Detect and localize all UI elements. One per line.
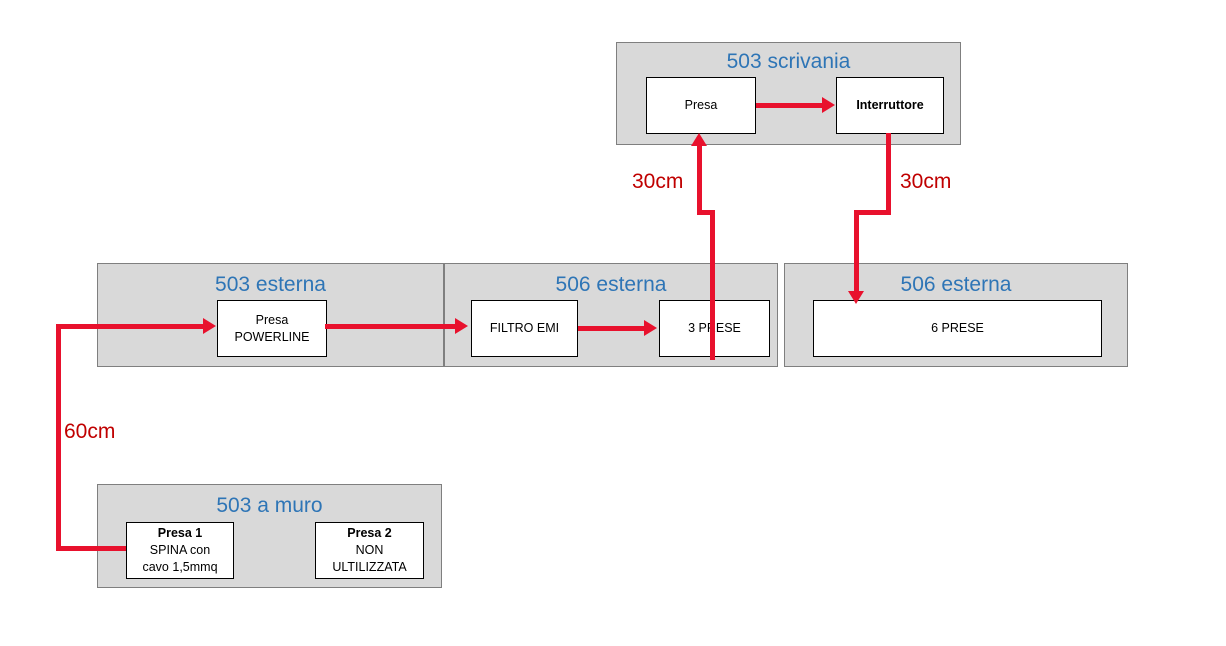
panel-503-a-muro: 503 a muro Presa 1 SPINA con cavo 1,5mmq…	[97, 484, 442, 588]
panel-503-esterna: 503 esterna Presa POWERLINE	[97, 263, 444, 367]
box-filtro-emi-line-1: FILTRO EMI	[490, 320, 559, 337]
box-presa-1-line-1: Presa 1	[158, 525, 202, 542]
box-6-prese-line-1: 6 PRESE	[931, 320, 984, 337]
box-presa-scrivania: Presa	[646, 77, 756, 134]
measure-30cm-right: 30cm	[900, 169, 951, 194]
arrowhead-60cm-to-powerline	[203, 318, 216, 334]
panel-title-503-scrivania: 503 scrivania	[617, 49, 960, 75]
box-presa-2-line-1: Presa 2	[347, 525, 391, 542]
connector-60cm-bottom	[56, 546, 126, 551]
connector-60cm-top	[56, 324, 211, 329]
panel-title-503-a-muro: 503 a muro	[98, 493, 441, 519]
box-presa-powerline: Presa POWERLINE	[217, 300, 327, 357]
arrowhead-30cm-left-to-presa	[691, 133, 707, 146]
box-presa-powerline-line-1: Presa	[256, 312, 289, 329]
panel-506-esterna-a: 506 esterna FILTRO EMI 3 PRESE	[444, 263, 778, 367]
arrowhead-presa-to-interruttore	[822, 97, 835, 113]
connector-30cm-right-lower	[854, 210, 859, 292]
connector-powerline-to-filtro	[325, 324, 457, 329]
connector-filtro-to-3prese	[578, 326, 646, 331]
box-presa-2: Presa 2 NON ULTILIZZATA	[315, 522, 424, 579]
arrowhead-powerline-to-filtro	[455, 318, 468, 334]
connector-30cm-right-upper	[886, 133, 891, 215]
diagram-canvas: 503 scrivania Presa Interruttore 503 est…	[0, 0, 1226, 646]
box-presa-powerline-line-2: POWERLINE	[234, 329, 309, 346]
arrowhead-filtro-to-3prese	[644, 320, 657, 336]
box-filtro-emi: FILTRO EMI	[471, 300, 578, 357]
panel-506-esterna-b: 506 esterna 6 PRESE	[784, 263, 1128, 367]
box-interruttore: Interruttore	[836, 77, 944, 134]
box-presa-2-line-2: NON	[356, 542, 384, 559]
connector-presa-to-interruttore	[756, 103, 824, 108]
box-presa-scrivania-line-1: Presa	[685, 97, 718, 114]
panel-title-503-esterna: 503 esterna	[98, 272, 443, 298]
measure-60cm: 60cm	[64, 419, 115, 444]
panel-title-506-esterna-b: 506 esterna	[785, 272, 1127, 298]
panel-title-506-esterna-a: 506 esterna	[445, 272, 777, 298]
connector-60cm-vertical	[56, 324, 61, 551]
connector-30cm-left-upper	[697, 145, 702, 213]
connector-30cm-right-step	[854, 210, 891, 215]
connector-30cm-left-lower	[710, 210, 715, 360]
box-presa-1-line-2: SPINA con	[150, 542, 210, 559]
measure-30cm-left: 30cm	[632, 169, 683, 194]
box-presa-1-line-3: cavo 1,5mmq	[142, 559, 217, 576]
panel-503-scrivania: 503 scrivania Presa Interruttore	[616, 42, 961, 145]
box-6-prese: 6 PRESE	[813, 300, 1102, 357]
box-presa-2-line-3: ULTILIZZATA	[332, 559, 406, 576]
arrowhead-30cm-right-to-6prese	[848, 291, 864, 304]
box-interruttore-line-1: Interruttore	[856, 97, 923, 114]
box-presa-1: Presa 1 SPINA con cavo 1,5mmq	[126, 522, 234, 579]
